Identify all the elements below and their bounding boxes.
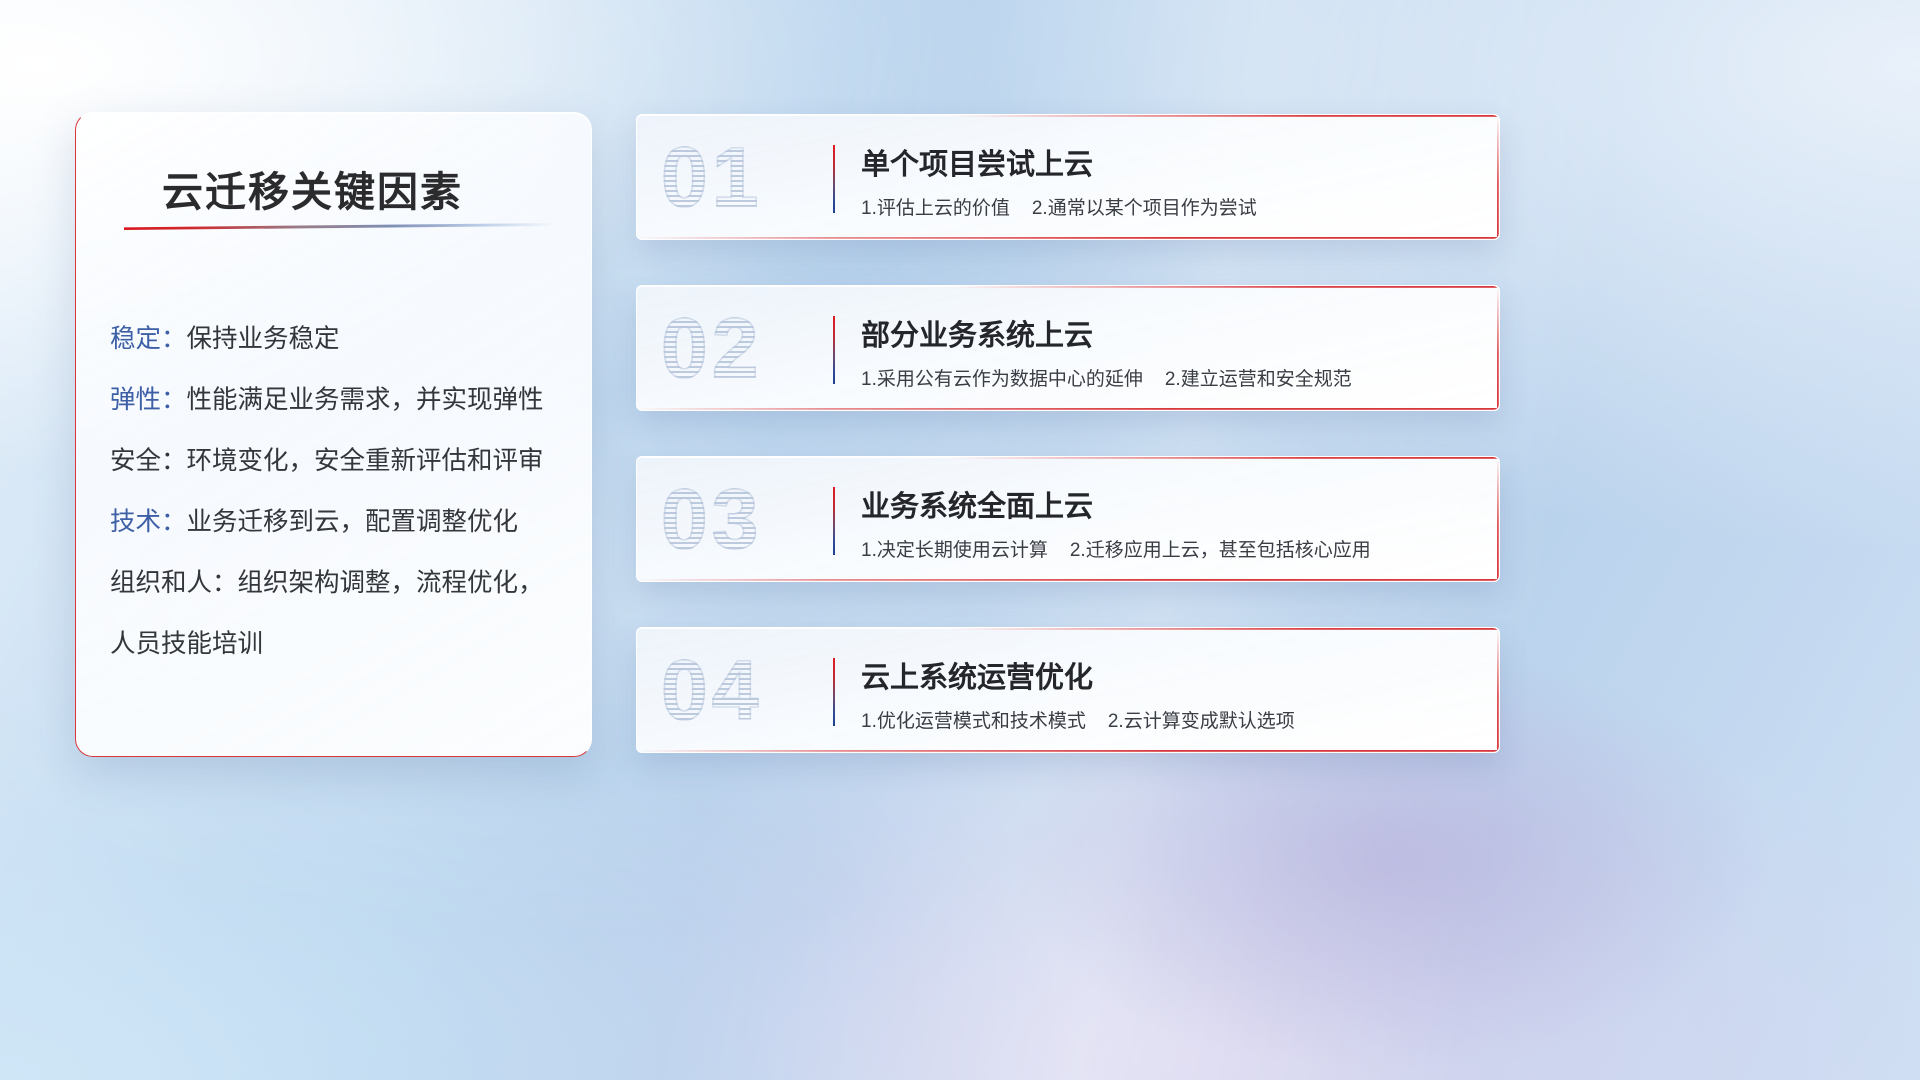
factor-value: 保持业务稳定 [187, 325, 340, 353]
stage-point-two: 2.云计算变成默认选项 [1108, 711, 1295, 732]
stage-card[interactable]: 03业务系统全面上云1.决定长期使用云计算2.迁移应用上云，甚至包括核心应用 [636, 456, 1500, 582]
factor-row: 稳定：保持业务稳定 [110, 309, 571, 370]
stage-divider-bar [833, 145, 835, 213]
stage-card[interactable]: 01单个项目尝试上云1.评估上云的价值2.通常以某个项目作为尝试 [636, 114, 1500, 240]
stage-card[interactable]: 04云上系统运营优化1.优化运营模式和技术模式2.云计算变成默认选项 [636, 627, 1500, 753]
factor-row: 弹性：性能满足业务需求，并实现弹性 [110, 370, 571, 431]
stage-divider-bar [833, 316, 835, 384]
factor-label: 安全： [110, 447, 187, 475]
stage-divider-bar [833, 487, 835, 555]
factor-label: 技术： [110, 508, 187, 536]
stage-point-one: 1.采用公有云作为数据中心的延伸 [861, 369, 1143, 390]
factor-value: 环境变化，安全重新评估和评审 [187, 447, 544, 475]
stage-number-watermark: 03 [661, 477, 762, 561]
stage-title: 业务系统全面上云 [861, 483, 1093, 525]
stage-number-watermark: 02 [661, 306, 762, 390]
stage-point-one: 1.优化运营模式和技术模式 [861, 711, 1086, 732]
factor-row: 安全：环境变化，安全重新评估和评审 [110, 431, 571, 492]
stage-point-one: 1.决定长期使用云计算 [861, 540, 1048, 561]
stage-subtitle: 1.采用公有云作为数据中心的延伸2.建立运营和安全规范 [861, 364, 1352, 391]
stage-card[interactable]: 02部分业务系统上云1.采用公有云作为数据中心的延伸2.建立运营和安全规范 [636, 285, 1500, 411]
factor-row: 人员技能培训 [110, 614, 571, 675]
factor-label: 稳定： [110, 325, 187, 353]
stage-number-watermark: 04 [661, 648, 762, 732]
stage-title: 云上系统运营优化 [861, 654, 1093, 696]
stage-subtitle: 1.评估上云的价值2.通常以某个项目作为尝试 [861, 193, 1257, 220]
key-factors-panel: 云迁移关键因素 稳定：保持业务稳定弹性：性能满足业务需求，并实现弹性安全：环境变… [75, 112, 592, 757]
stage-divider-bar [833, 658, 835, 726]
stage-point-one: 1.评估上云的价值 [861, 198, 1010, 219]
factor-label: 弹性： [110, 386, 187, 414]
factor-row: 技术：业务迁移到云，配置调整优化 [110, 492, 571, 553]
stage-card-list: 01单个项目尝试上云1.评估上云的价值2.通常以某个项目作为尝试02部分业务系统… [636, 114, 1500, 798]
stage-point-two: 2.建立运营和安全规范 [1165, 369, 1352, 390]
factor-list: 稳定：保持业务稳定弹性：性能满足业务需求，并实现弹性安全：环境变化，安全重新评估… [110, 309, 571, 675]
slide-canvas: 云迁移关键因素 稳定：保持业务稳定弹性：性能满足业务需求，并实现弹性安全：环境变… [0, 0, 1920, 1080]
stage-point-two: 2.通常以某个项目作为尝试 [1032, 198, 1257, 219]
page-title: 云迁移关键因素 [162, 158, 463, 218]
stage-number-watermark: 01 [661, 135, 762, 219]
factor-label: 组织和人： [110, 569, 238, 597]
factor-value: 业务迁移到云，配置调整优化 [187, 508, 519, 536]
factor-value: 组织架构调整，流程优化， [238, 569, 544, 597]
factor-row: 组织和人：组织架构调整，流程优化， [110, 553, 571, 614]
factor-value: 性能满足业务需求，并实现弹性 [187, 386, 544, 414]
stage-subtitle: 1.决定长期使用云计算2.迁移应用上云，甚至包括核心应用 [861, 535, 1371, 562]
stage-title: 单个项目尝试上云 [861, 141, 1093, 183]
factor-value: 人员技能培训 [110, 630, 263, 658]
title-underline-gradient [124, 223, 554, 230]
stage-point-two: 2.迁移应用上云，甚至包括核心应用 [1070, 540, 1371, 561]
stage-title: 部分业务系统上云 [861, 312, 1093, 354]
stage-subtitle: 1.优化运营模式和技术模式2.云计算变成默认选项 [861, 706, 1295, 733]
